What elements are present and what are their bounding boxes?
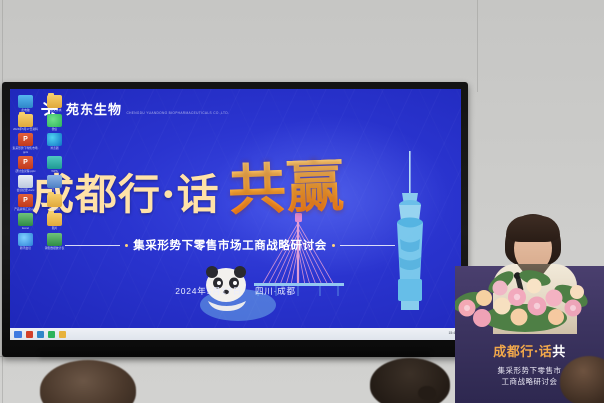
desktop-icon-label: Excel: [12, 227, 39, 230]
browser-icon[interactable]: [47, 133, 62, 146]
desktop-icon-label: 此电脑: [12, 109, 39, 112]
taskbar[interactable]: 15:42: [10, 328, 461, 340]
desktop-icon-row: 此电脑新建文件夹: [12, 95, 70, 112]
desktop-icon-label: 研讨会议程.pptx: [12, 170, 39, 173]
flower-svg: [455, 262, 595, 332]
slide-subtitle-row: 集采形势下零售市场工商战略研讨会: [65, 237, 395, 253]
taskbar-folder-icon[interactable]: [59, 331, 66, 338]
folder-icon[interactable]: [47, 194, 62, 207]
powerpoint-icon[interactable]: [18, 156, 33, 169]
desktop-icon-label: 下载: [41, 189, 68, 192]
start-button-icon[interactable]: [14, 331, 22, 338]
taskbar-powerpoint-icon[interactable]: [26, 331, 33, 338]
slide-date: 2024年5月17日: [175, 286, 242, 296]
word-icon[interactable]: [18, 175, 33, 188]
desktop-icon-label: 2024年5月17日资料: [12, 128, 39, 131]
desktop-icon-row: 集采形势下零售市场.pptx浏览器: [12, 133, 70, 153]
subtitle-dot-right: [332, 244, 335, 247]
wall-display[interactable]: 苑东生物 CHENGDU YUANDONG BIOPHARMACEUTICALS…: [2, 82, 468, 357]
conference-room-scene: 苑东生物 CHENGDU YUANDONG BIOPHARMACEUTICALS…: [0, 0, 604, 403]
desktop-icon[interactable]: 微信: [41, 114, 68, 131]
desktop-icon[interactable]: 此电脑: [12, 95, 39, 112]
taskbar-wechat-icon[interactable]: [48, 331, 55, 338]
speaker-fringe: [506, 216, 560, 242]
company-name-en: CHENGDU YUANDONG BIOPHARMACEUTICALS CO.,…: [126, 111, 229, 115]
desktop-icon[interactable]: 工作资料: [41, 194, 68, 211]
powerpoint-icon[interactable]: [18, 133, 33, 146]
desktop-icon-label: 微信: [41, 128, 68, 131]
spreadsheet-icon[interactable]: [47, 233, 62, 246]
presentation-slide: 苑东生物 CHENGDU YUANDONG BIOPHARMACEUTICALS…: [10, 89, 461, 340]
desktop-icon[interactable]: 集采形势下零售市场.pptx: [12, 133, 39, 153]
desktop-icon[interactable]: 腾讯会议: [12, 233, 39, 250]
desktop-icon-column[interactable]: 此电脑新建文件夹2024年5月17日资料微信集采形势下零售市场.pptx浏览器研…: [12, 95, 70, 250]
subtitle-dot-left: [125, 244, 128, 247]
desktop-icon[interactable]: 图片: [41, 213, 68, 230]
slide-date-location: 2024年5月17日 四川·成都: [10, 285, 461, 297]
desktop-icon-label: 浏览器: [41, 147, 68, 150]
this-pc-icon[interactable]: [18, 95, 33, 108]
desktop-icon[interactable]: 2024年5月17日资料: [12, 114, 39, 131]
desktop-icon[interactable]: Excel: [12, 213, 39, 230]
desktop-icon-label: 产品资料汇总.pptx: [12, 208, 39, 211]
desktop-icon-row: 产品资料汇总.pptx工作资料: [12, 194, 70, 211]
subtitle-rule-left: [65, 245, 120, 246]
desktop-icon[interactable]: 新建文件夹: [41, 95, 68, 112]
desktop-icon-label: 集采形势下零售市场.pptx: [12, 147, 39, 153]
wps-icon[interactable]: [47, 156, 62, 169]
desktop-icon[interactable]: 研讨会议程.pptx: [12, 156, 39, 173]
desktop-icon-row: 研讨会议程.pptxWPS: [12, 156, 70, 173]
taskbar-browser-icon[interactable]: [37, 331, 44, 338]
desktop-icon-label: 工作资料: [41, 208, 68, 211]
slide-title: 成都行·话 共赢: [32, 161, 432, 215]
download-folder-icon[interactable]: [47, 175, 62, 188]
company-name-cn: 苑东生物: [66, 102, 122, 117]
display-shadow: [40, 352, 430, 361]
folder-icon[interactable]: [47, 213, 62, 226]
subtitle-rule-right: [340, 245, 395, 246]
audience-hair-bun: [418, 386, 436, 400]
desktop-icon-label: 销售数据统计表: [41, 247, 68, 250]
podium-title-light: 成都行·话: [493, 345, 552, 360]
folder-icon[interactable]: [47, 95, 62, 108]
desktop-icon-row: 会议纪要.docx下载: [12, 175, 70, 192]
desktop-icon[interactable]: 销售数据统计表: [41, 233, 68, 250]
desktop-icon[interactable]: 浏览器: [41, 133, 68, 153]
powerpoint-icon[interactable]: [18, 194, 33, 207]
wall-seam: [477, 0, 478, 92]
desktop-icon-label: WPS: [41, 170, 68, 173]
audience-head: [370, 358, 450, 403]
slide-title-gold: 共赢: [227, 159, 345, 215]
desktop-icon-row: 2024年5月17日资料微信: [12, 114, 70, 131]
meeting-icon[interactable]: [18, 233, 33, 246]
slide-subtitle: 集采形势下零售市场工商战略研讨会: [133, 237, 327, 253]
desktop-icon-label: 腾讯会议: [12, 247, 39, 250]
desktop-icon[interactable]: 会议纪要.docx: [12, 175, 39, 192]
slide-location: 四川·成都: [255, 286, 296, 296]
desktop-icon-label: 会议纪要.docx: [12, 189, 39, 192]
wechat-icon[interactable]: [47, 114, 62, 127]
folder-icon[interactable]: [18, 114, 33, 127]
desktop-icon-label: 新建文件夹: [41, 109, 68, 112]
excel-icon[interactable]: [18, 213, 33, 226]
desktop-icon-label: 图片: [41, 227, 68, 230]
desktop-icon-row: Excel图片: [12, 213, 70, 230]
desktop-icon-row: 腾讯会议销售数据统计表: [12, 233, 70, 250]
flower-arrangement: [455, 262, 595, 332]
display-screen[interactable]: 苑东生物 CHENGDU YUANDONG BIOPHARMACEUTICALS…: [10, 89, 461, 340]
podium-title-gold: 共: [552, 345, 566, 360]
desktop-icon[interactable]: WPS: [41, 156, 68, 173]
desktop-icon[interactable]: 产品资料汇总.pptx: [12, 194, 39, 211]
desktop-icon[interactable]: 下载: [41, 175, 68, 192]
